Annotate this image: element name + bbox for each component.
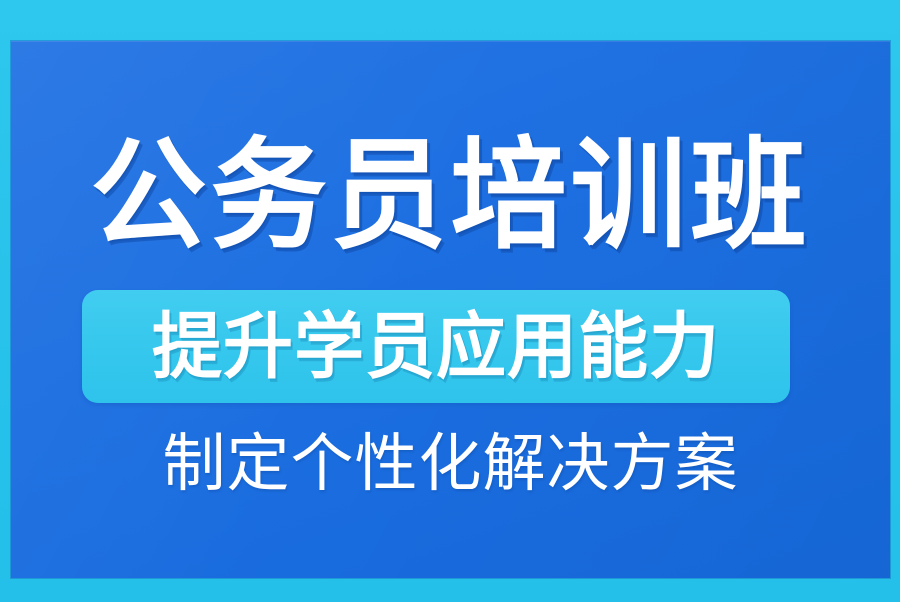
highlight-band-label: 提升学员应用能力	[152, 310, 720, 382]
highlight-band: 提升学员应用能力	[82, 290, 790, 403]
promo-banner: 公务员培训班 提升学员应用能力 制定个性化解决方案	[0, 0, 900, 602]
page-title: 公务员培训班	[11, 135, 890, 256]
poster-content: 公务员培训班 提升学员应用能力 制定个性化解决方案	[11, 41, 890, 578]
poster-panel: 公务员培训班 提升学员应用能力 制定个性化解决方案	[11, 41, 890, 578]
subtitle-text: 制定个性化解决方案	[11, 433, 890, 496]
